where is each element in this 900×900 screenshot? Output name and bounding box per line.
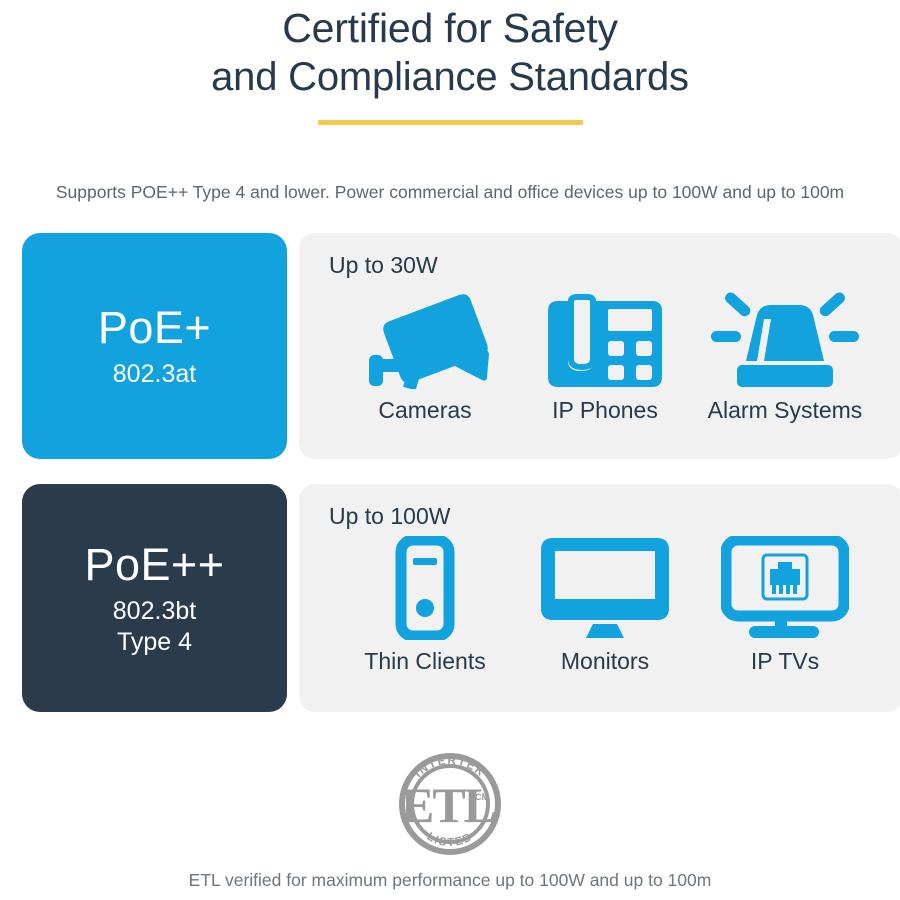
poe-plusplus-badge-card: PoE++ 802.3bt Type 4: [22, 484, 287, 712]
etl-logo-wrap: INTERTEK LISTED ETL CM: [0, 748, 900, 860]
device-label-monitors: Monitors: [561, 646, 649, 676]
poe-plusplus-device-list: Thin Clients Monitors: [329, 536, 881, 676]
poe-plusplus-badge-standard: 802.3bt: [113, 596, 196, 627]
etl-center-text: ETL: [401, 777, 496, 833]
device-item-ip-phones: IP Phones: [515, 285, 695, 425]
infographic-page: Certified for Safety and Compliance Stan…: [0, 0, 900, 900]
title-underline-rule: [318, 120, 583, 125]
device-label-ip-phones: IP Phones: [552, 395, 658, 425]
ip-tv-icon: [721, 536, 849, 640]
device-item-alarm-systems: Alarm Systems: [695, 285, 875, 425]
poe-plusplus-badge-type: Type 4: [117, 627, 192, 658]
poe-plusplus-badge-name: PoE++: [84, 539, 224, 591]
page-header: Certified for Safety and Compliance Stan…: [0, 0, 900, 125]
device-item-ip-tvs: IP TVs: [695, 536, 875, 676]
security-camera-icon: [359, 285, 491, 389]
device-item-thin-clients: Thin Clients: [335, 536, 515, 676]
device-label-ip-tvs: IP TVs: [751, 646, 819, 676]
device-item-monitors: Monitors: [515, 536, 695, 676]
poe-plus-badge-name: PoE+: [98, 302, 211, 354]
poe-plus-device-panel: Up to 30W: [299, 233, 900, 459]
poe-plusplus-row: PoE++ 802.3bt Type 4 Up to 100W Thin Cli…: [22, 484, 878, 712]
poe-plus-badge-card: PoE+ 802.3at: [22, 233, 287, 459]
thin-client-icon: [395, 536, 455, 640]
monitor-icon: [535, 536, 675, 640]
device-item-cameras: Cameras: [335, 285, 515, 425]
device-label-thin-clients: Thin Clients: [364, 646, 485, 676]
page-title-line-2: and Compliance Standards: [0, 53, 900, 102]
rj45-connector-glyph: [770, 562, 800, 594]
ip-phone-icon: [546, 285, 664, 389]
device-label-alarm-systems: Alarm Systems: [708, 395, 863, 425]
alarm-siren-icon: [709, 285, 861, 389]
page-title-line-1: Certified for Safety: [0, 4, 900, 53]
poe-plus-badge-standard: 802.3at: [113, 359, 196, 390]
device-label-cameras: Cameras: [378, 395, 471, 425]
footer-note: ETL verified for maximum performance up …: [0, 868, 900, 892]
poe-plusplus-device-panel: Up to 100W Thin Clients: [299, 484, 900, 712]
poe-plus-device-list: Cameras: [329, 285, 881, 425]
poe-plus-row: PoE+ 802.3at Up to 30W: [22, 233, 878, 459]
page-subtitle: Supports POE++ Type 4 and lower. Power c…: [0, 180, 900, 204]
poe-plus-power-heading: Up to 30W: [329, 251, 881, 279]
etl-listed-logo: INTERTEK LISTED ETL CM: [394, 748, 506, 860]
etl-cm-superscript: CM: [475, 792, 489, 802]
poe-plusplus-power-heading: Up to 100W: [329, 502, 881, 530]
